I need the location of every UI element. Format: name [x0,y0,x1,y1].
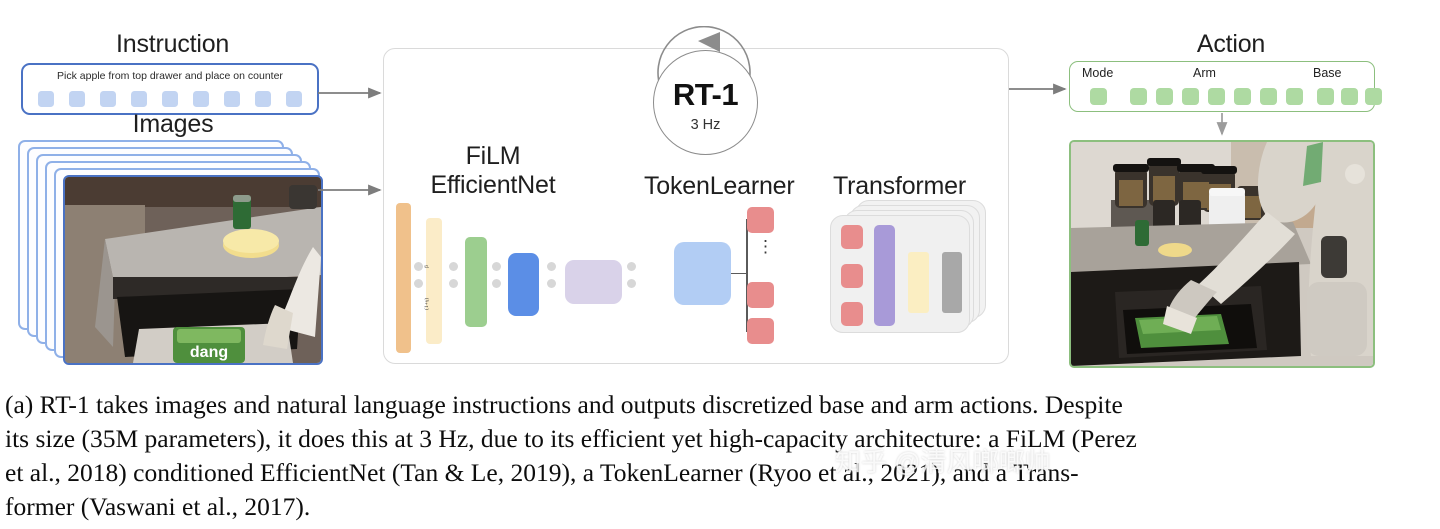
action-token-base [1317,88,1334,105]
action-token-base [1365,88,1382,105]
caption-line-1: (a) RT-1 takes images and natural langua… [5,388,1435,422]
action-token-arm [1260,88,1277,105]
tokenlearner-wire [746,219,748,332]
film-title-line2: EfficientNet [431,171,556,199]
transformer-title: Transformer [833,172,955,201]
instruction-text: Pick apple from top drawer and place on … [23,70,317,82]
instruction-token [69,91,85,107]
film-connector-dot [547,279,556,288]
robot-scene-illustration [1071,142,1373,366]
action-token-mode [1090,88,1107,105]
instruction-token [131,91,147,107]
action-title: Action [1176,30,1286,59]
action-token-arm [1130,88,1147,105]
action-to-robot-arrow [1212,113,1234,141]
tokenlearner-token [747,282,774,308]
film-connector-dot [627,279,636,288]
transformer-token [841,225,863,249]
transformer-token [841,302,863,326]
film-connector-dot [449,262,458,271]
images-title: Images [118,110,228,139]
instruction-token [224,91,240,107]
film-connector-dot [414,279,423,288]
transformer-layer-yellow [908,252,929,313]
rt1-label: RT-1 [654,77,757,113]
action-group-label-base: Base [1313,66,1342,80]
caption-line-4: former (Vaswani et al., 2017). [5,490,1435,524]
instruction-box: Pick apple from top drawer and place on … [21,63,319,115]
transformer-token [841,264,863,288]
instruction-title: Instruction [116,30,226,59]
film-block-orange [396,203,411,353]
rt1-badge: RT-1 3 Hz [653,50,758,155]
instruction-token [193,91,209,107]
film-connector-dot [449,279,458,288]
film-connector-dot [547,262,556,271]
tokenlearner-token [747,207,774,233]
camera-scene-illustration: dang [65,177,321,363]
rt1-rate-label: 3 Hz [654,117,757,133]
action-token-arm [1208,88,1225,105]
film-block-purple [565,260,622,304]
instruction-token [38,91,54,107]
instruction-token-row [23,91,317,107]
film-block-green [465,237,487,327]
action-token-arm [1156,88,1173,105]
tokenlearner-title: TokenLearner [644,172,780,201]
instruction-token [100,91,116,107]
film-param-beta: β [424,265,430,268]
action-token-arm [1286,88,1303,105]
film-connector-dot [492,279,501,288]
caption-line-3: et al., 2018) conditioned EfficientNet (… [5,456,1435,490]
instruction-token [162,91,178,107]
tokenlearner-wire [731,273,747,275]
figure-diagram: Instruction Pick apple from top drawer a… [0,0,1440,385]
film-block-cream [426,218,442,344]
input-connector-arrows [318,78,388,308]
figure-caption: (a) RT-1 takes images and natural langua… [5,388,1435,524]
film-connector-dot [627,262,636,271]
robot-camera-photo: dang [63,175,323,365]
instruction-token [286,91,302,107]
action-token-arm [1234,88,1251,105]
output-connector-arrow [1009,78,1073,102]
film-connector-dot [492,262,501,271]
action-token-base [1341,88,1358,105]
action-token-arm [1182,88,1199,105]
film-block-blue [508,253,539,316]
action-box: Mode Arm Base [1069,61,1375,112]
images-stack: dang [18,140,324,368]
transformer-layer-gray [942,252,962,313]
film-title-line1: FiLM [466,142,521,170]
transformer-layer-purple [874,225,895,326]
film-param-gamma: (1+γ) [424,298,430,310]
action-group-label-arm: Arm [1193,66,1216,80]
tokenlearner-token [747,318,774,344]
instruction-token [255,91,271,107]
svg-text:dang: dang [190,344,228,361]
tokenlearner-input-block [674,242,731,305]
caption-line-2: its size (35M parameters), it does this … [5,422,1435,456]
tokenlearner-ellipsis-icon: ⋮ [757,243,765,250]
film-connector-dot [414,262,423,271]
action-group-label-mode: Mode [1082,66,1113,80]
robot-scene-photo [1069,140,1375,368]
film-efficientnet-title: FiLM EfficientNet [418,142,568,200]
